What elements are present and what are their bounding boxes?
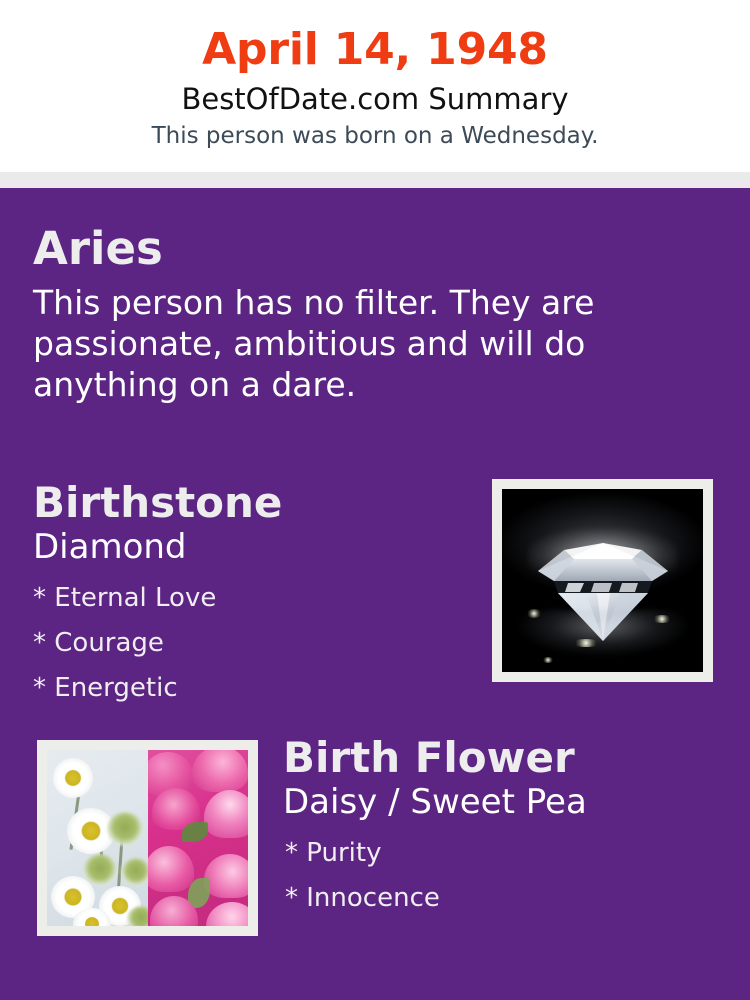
- zodiac-sign-title: Aries: [33, 222, 673, 276]
- daisy-photo-half: [47, 750, 148, 926]
- header: April 14, 1948 BestOfDate.com Summary Th…: [0, 0, 750, 172]
- divider-upper: [0, 172, 750, 180]
- birthstone-heading: Birthstone: [33, 478, 473, 528]
- sweet-pea-flower: [192, 750, 248, 792]
- sparkle-icon: [572, 639, 600, 647]
- birthflower-heading: Birth Flower: [283, 733, 723, 783]
- birthflower-trait-list: * Purity * Innocence: [285, 831, 723, 921]
- birthstone-section: Birthstone Diamond * Eternal Love * Cour…: [33, 478, 473, 711]
- list-item: * Eternal Love: [33, 576, 473, 621]
- infographic-page: April 14, 1948 BestOfDate.com Summary Th…: [0, 0, 750, 1000]
- sweet-pea-flower: [206, 902, 249, 926]
- sweet-pea-flower: [148, 846, 194, 892]
- zodiac-description: This person has no filter. They are pass…: [33, 282, 648, 405]
- birthstone-trait-list: * Eternal Love * Courage * Energetic: [33, 576, 473, 711]
- sweet-pea-photo-half: [148, 750, 249, 926]
- daisy-bud: [127, 906, 148, 926]
- birthflower-image-frame: [37, 740, 258, 936]
- leaf-shape: [182, 822, 208, 842]
- daisy-bud: [121, 858, 148, 886]
- diamond-photo: [502, 489, 703, 672]
- list-item: * Purity: [285, 831, 723, 876]
- page-title-date: April 14, 1948: [0, 24, 750, 76]
- zodiac-section: Aries This person has no filter. They ar…: [33, 222, 673, 405]
- birthstone-image-frame: [492, 479, 713, 682]
- divider-lower: [0, 180, 750, 188]
- daisy-sweet-pea-photo: [47, 750, 248, 926]
- sparkle-icon: [526, 609, 542, 618]
- sparkle-icon: [542, 657, 554, 663]
- birth-weekday-note: This person was born on a Wednesday.: [0, 120, 750, 152]
- sweet-pea-flower: [204, 854, 249, 898]
- birthflower-section: Birth Flower Daisy / Sweet Pea * Purity …: [283, 733, 723, 921]
- site-name: BestOfDate.com Summary: [0, 80, 750, 118]
- list-item: * Courage: [33, 621, 473, 666]
- list-item: * Energetic: [33, 666, 473, 711]
- birthstone-name: Diamond: [33, 526, 473, 568]
- sparkle-icon: [652, 615, 672, 623]
- daisy-bud: [107, 812, 143, 846]
- daisy-flower: [53, 758, 93, 798]
- list-item: * Innocence: [285, 876, 723, 921]
- birthflower-name: Daisy / Sweet Pea: [283, 781, 723, 823]
- sweet-pea-flower: [204, 790, 249, 838]
